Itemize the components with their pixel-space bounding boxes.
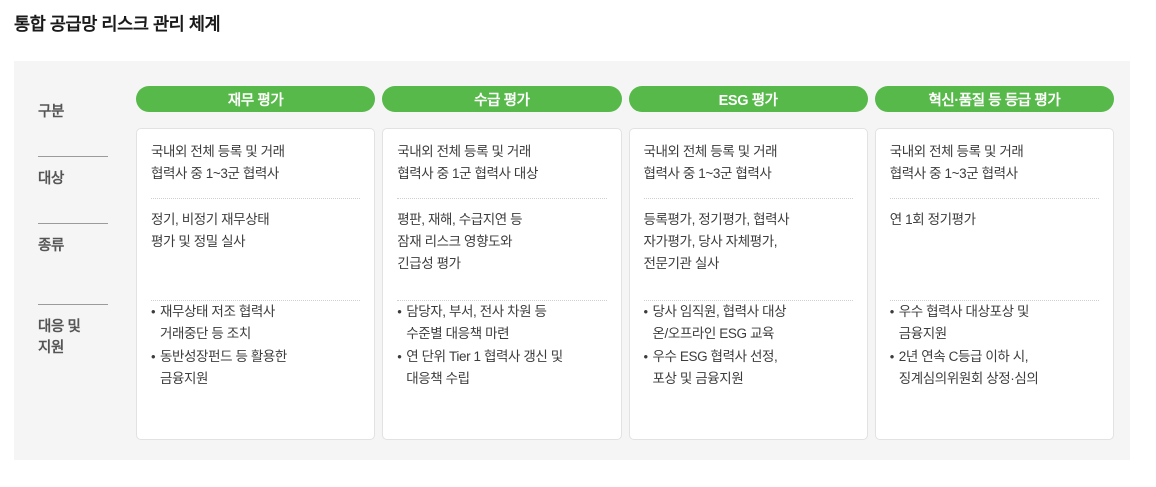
column-header-pill: 혁신·품질 등 등급 평가	[875, 86, 1114, 112]
card-section-kind: 정기, 비정기 재무상태 평가 및 정밀 실사	[151, 199, 360, 295]
list-item: 우수 협력사 대상포상 및 금융지원	[890, 301, 1099, 345]
evaluation-card: 국내외 전체 등록 및 거래 협력사 중 1~3군 협력사 연 1회 정기평가 …	[875, 128, 1114, 440]
list-item: 당사 임직원, 협력사 대상 온/오프라인 ESG 교육	[644, 301, 853, 345]
column-header-pill: 재무 평가	[136, 86, 375, 112]
evaluation-column-supply: 수급 평가 국내외 전체 등록 및 거래 협력사 중 1군 협력사 대상 평판,…	[382, 86, 621, 440]
list-item: 재무상태 저조 협력사 거래중단 등 조치	[151, 301, 360, 345]
evaluation-card: 국내외 전체 등록 및 거래 협력사 중 1~3군 협력사 정기, 비정기 재무…	[136, 128, 375, 440]
row-label-daesang: 대상	[38, 169, 64, 190]
matrix-grid: 구분 대상 종류 대응 및 지원 재무 평가 국내외 전체 등록 및 거래 협력…	[14, 61, 1130, 460]
card-section-actions: 우수 협력사 대상포상 및 금융지원 2년 연속 C등급 이하 시, 징계심의위…	[890, 301, 1099, 390]
list-item: 담당자, 부서, 전사 차원 등 수준별 대응책 마련	[397, 301, 606, 345]
column-header-pill: 수급 평가	[382, 86, 621, 112]
card-section-actions: 담당자, 부서, 전사 차원 등 수준별 대응책 마련 연 단위 Tier 1 …	[397, 301, 606, 390]
card-section-target: 국내외 전체 등록 및 거래 협력사 중 1군 협력사 대상	[397, 141, 606, 193]
list-item: 연 단위 Tier 1 협력사 갱신 및 대응책 수립	[397, 346, 606, 390]
evaluation-card: 국내외 전체 등록 및 거래 협력사 중 1~3군 협력사 등록평가, 정기평가…	[629, 128, 868, 440]
list-item: 우수 ESG 협력사 선정, 포상 및 금융지원	[644, 346, 853, 390]
card-section-target: 국내외 전체 등록 및 거래 협력사 중 1~3군 협력사	[890, 141, 1099, 193]
row-divider-1	[38, 156, 108, 157]
column-header-pill: ESG 평가	[629, 86, 868, 112]
row-divider-3	[38, 304, 108, 305]
list-item: 동반성장펀드 등 활용한 금융지원	[151, 346, 360, 390]
evaluation-card: 국내외 전체 등록 및 거래 협력사 중 1군 협력사 대상 평판, 재해, 수…	[382, 128, 621, 440]
evaluation-column-esg: ESG 평가 국내외 전체 등록 및 거래 협력사 중 1~3군 협력사 등록평…	[629, 86, 868, 440]
row-label-daeeung-mit-jiwon: 대응 및 지원	[38, 317, 80, 359]
card-section-kind: 등록평가, 정기평가, 협력사 자가평가, 당사 자체평가, 전문기관 실사	[644, 199, 853, 295]
row-label-gubun: 구분	[38, 102, 64, 123]
card-section-kind: 평판, 재해, 수급지연 등 잠재 리스크 영향도와 긴급성 평가	[397, 199, 606, 295]
card-section-actions: 재무상태 저조 협력사 거래중단 등 조치 동반성장펀드 등 활용한 금융지원	[151, 301, 360, 390]
row-label-column: 구분 대상 종류 대응 및 지원	[30, 86, 136, 440]
evaluation-column-innovation-quality: 혁신·품질 등 등급 평가 국내외 전체 등록 및 거래 협력사 중 1~3군 …	[875, 86, 1114, 440]
page-title: 통합 공급망 리스크 관리 체계	[14, 12, 220, 37]
card-section-target: 국내외 전체 등록 및 거래 협력사 중 1~3군 협력사	[151, 141, 360, 193]
card-section-actions: 당사 임직원, 협력사 대상 온/오프라인 ESG 교육 우수 ESG 협력사 …	[644, 301, 853, 390]
card-section-target: 국내외 전체 등록 및 거래 협력사 중 1~3군 협력사	[644, 141, 853, 193]
supply-chain-risk-panel: 구분 대상 종류 대응 및 지원 재무 평가 국내외 전체 등록 및 거래 협력…	[14, 61, 1130, 460]
card-section-kind: 연 1회 정기평가	[890, 199, 1099, 295]
list-item: 2년 연속 C등급 이하 시, 징계심의위원회 상정·심의	[890, 346, 1099, 390]
evaluation-columns: 재무 평가 국내외 전체 등록 및 거래 협력사 중 1~3군 협력사 정기, …	[136, 86, 1114, 440]
row-divider-2	[38, 223, 108, 224]
evaluation-column-financial: 재무 평가 국내외 전체 등록 및 거래 협력사 중 1~3군 협력사 정기, …	[136, 86, 375, 440]
row-label-jongryu: 종류	[38, 236, 64, 257]
